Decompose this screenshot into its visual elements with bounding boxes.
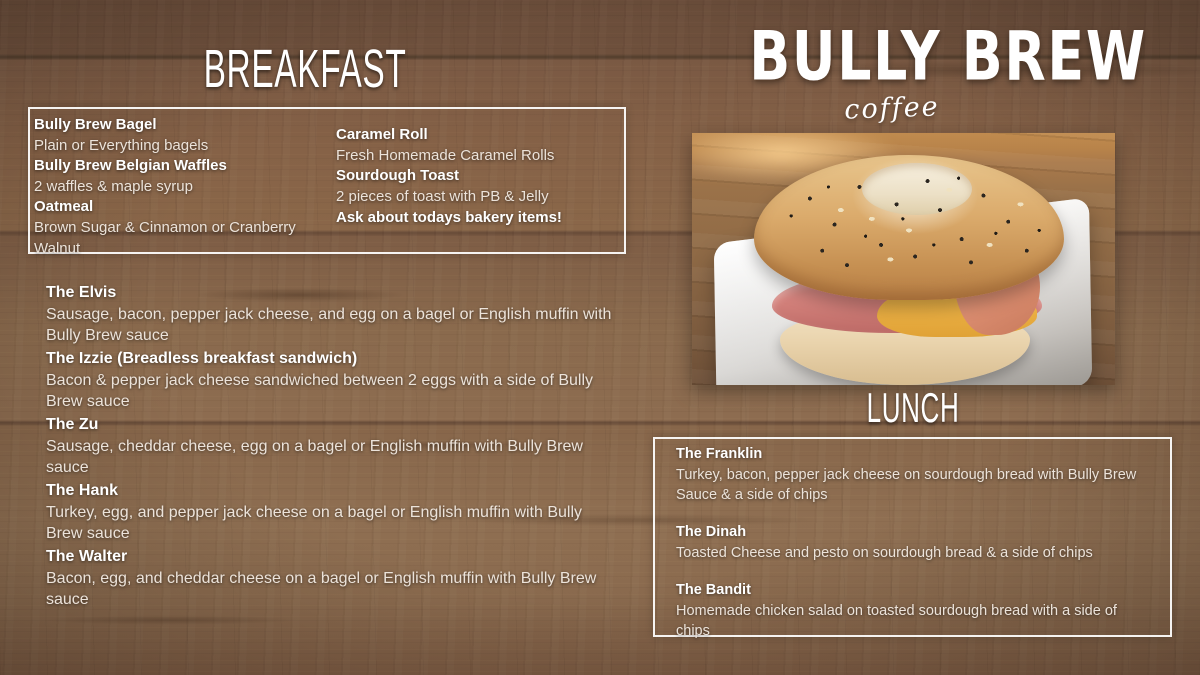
menu-item: The Hank Turkey, egg, and pepper jack ch… bbox=[46, 479, 612, 544]
menu-item-desc: Brown Sugar & Cinnamon or Cranberry Waln… bbox=[34, 217, 334, 259]
breakfast-sandwich-list: The Elvis Sausage, bacon, pepper jack ch… bbox=[46, 281, 612, 611]
breakfast-box-left-column: Bully Brew Bagel Plain or Everything bag… bbox=[34, 115, 334, 259]
menu-item-name: The Walter bbox=[46, 545, 612, 568]
menu-item-desc: Homemade chicken salad on toasted sourdo… bbox=[676, 601, 1146, 641]
menu-item: The Zu Sausage, cheddar cheese, egg on a… bbox=[46, 413, 612, 478]
menu-item-desc: Turkey, egg, and pepper jack cheese on a… bbox=[46, 502, 612, 544]
menu-item-name: Caramel Roll bbox=[336, 125, 626, 145]
menu-item-name: The Franklin bbox=[676, 444, 1146, 465]
menu-item: Bully Brew Belgian Waffles 2 waffles & m… bbox=[34, 156, 334, 197]
menu-item-name: Bully Brew Belgian Waffles bbox=[34, 156, 334, 176]
menu-item-desc: Fresh Homemade Caramel Rolls bbox=[336, 145, 626, 166]
menu-item-name: The Dinah bbox=[676, 522, 1146, 543]
menu-item: The Elvis Sausage, bacon, pepper jack ch… bbox=[46, 281, 612, 346]
menu-item-name: The Hank bbox=[46, 479, 612, 502]
breakfast-box-right-column: Caramel Roll Fresh Homemade Caramel Roll… bbox=[336, 125, 626, 229]
photo-poppy-seeds-extra bbox=[754, 155, 1064, 300]
menu-item: The Bandit Homemade chicken salad on toa… bbox=[676, 580, 1146, 641]
menu-item-desc: 2 waffles & maple syrup bbox=[34, 176, 334, 197]
menu-item: The Franklin Turkey, bacon, pepper jack … bbox=[676, 444, 1146, 505]
brand-logo: BULLY BREW coffee bbox=[722, 26, 1062, 124]
breakfast-section-heading: BREAKFAST bbox=[116, 42, 494, 96]
photo-everything-seasoning bbox=[754, 155, 1064, 300]
menu-item: Bully Brew Bagel Plain or Everything bag… bbox=[34, 115, 334, 156]
menu-item-name: Oatmeal bbox=[34, 197, 334, 217]
menu-item: The Izzie (Breadless breakfast sandwich)… bbox=[46, 347, 612, 412]
menu-item: Caramel Roll Fresh Homemade Caramel Roll… bbox=[336, 125, 626, 166]
menu-item-desc: Bacon, egg, and cheddar cheese on a bage… bbox=[46, 568, 612, 610]
menu-item-name: The Zu bbox=[46, 413, 612, 436]
menu-content-layer: BULLY BREW coffee BREAKFAST Bully Brew B… bbox=[0, 0, 1200, 675]
bagel-sandwich-photo bbox=[692, 133, 1115, 385]
menu-item-name: Bully Brew Bagel bbox=[34, 115, 334, 135]
menu-item: The Dinah Toasted Cheese and pesto on so… bbox=[676, 522, 1146, 563]
menu-item-desc: Plain or Everything bagels bbox=[34, 135, 334, 156]
menu-item-desc: 2 pieces of toast with PB & Jelly bbox=[336, 186, 626, 207]
menu-item-desc: Turkey, bacon, pepper jack cheese on sou… bbox=[676, 465, 1146, 505]
lunch-section-heading: LUNCH bbox=[752, 386, 1074, 430]
bakery-items-callout: Ask about todays bakery items! bbox=[336, 207, 626, 229]
menu-item-name: Sourdough Toast bbox=[336, 166, 626, 186]
menu-item-name: The Elvis bbox=[46, 281, 612, 304]
menu-item-name: The Bandit bbox=[676, 580, 1146, 601]
menu-item-desc: Toasted Cheese and pesto on sourdough br… bbox=[676, 543, 1146, 563]
menu-item: The Walter Bacon, egg, and cheddar chees… bbox=[46, 545, 612, 610]
menu-item-desc: Sausage, cheddar cheese, egg on a bagel … bbox=[46, 436, 612, 478]
menu-item: Sourdough Toast 2 pieces of toast with P… bbox=[336, 166, 626, 207]
lunch-item-list: The Franklin Turkey, bacon, pepper jack … bbox=[676, 444, 1146, 641]
menu-item-desc: Sausage, bacon, pepper jack cheese, and … bbox=[46, 304, 612, 346]
menu-item-name: The Izzie (Breadless breakfast sandwich) bbox=[46, 347, 612, 370]
menu-item-desc: Bacon & pepper jack cheese sandwiched be… bbox=[46, 370, 612, 412]
menu-item: Oatmeal Brown Sugar & Cinnamon or Cranbe… bbox=[34, 197, 334, 259]
brand-wordmark: BULLY BREW bbox=[749, 24, 1035, 90]
